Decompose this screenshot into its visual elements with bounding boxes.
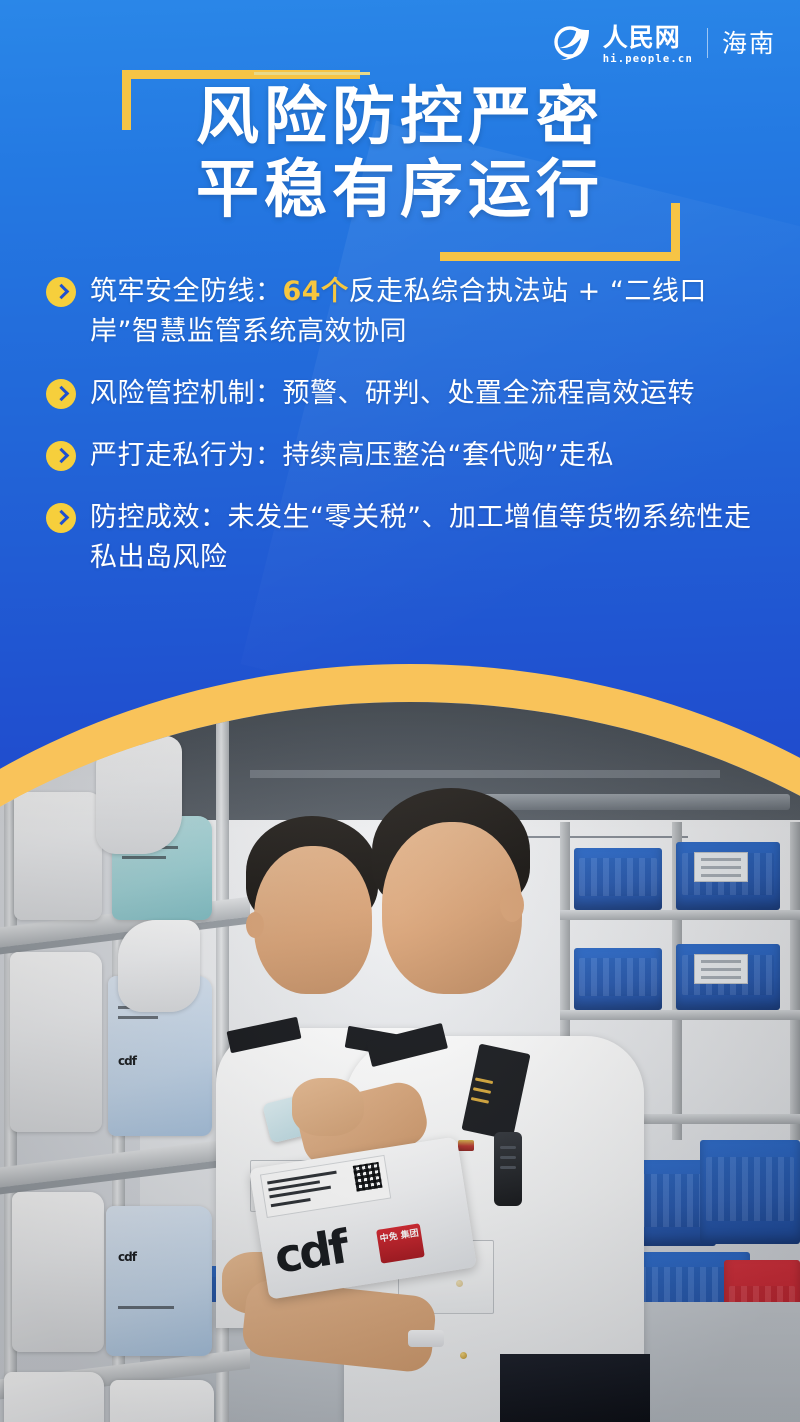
logo-text-wrap: 人民网 hi.people.cn xyxy=(603,25,693,65)
parcel-seal-logo: 中免 集团 xyxy=(376,1223,425,1263)
package-label: cdf xyxy=(118,1054,136,1068)
package-label: cdf xyxy=(118,1250,136,1264)
photo-officer-hand xyxy=(292,1078,364,1136)
bullet-list: 筑牢安全防线：64个反走私综合执法站 + “二线口岸”智慧监管系统高效协同 风险… xyxy=(46,272,758,600)
bullet-prefix: 风险管控机制：预警、研判、处置全流程高效运转 xyxy=(90,378,695,409)
bracket-top-left-thin-line xyxy=(254,72,370,75)
list-item: 筑牢安全防线：64个反走私综合执法站 + “二线口岸”智慧监管系统高效协同 xyxy=(46,272,758,352)
logo-divider xyxy=(707,28,708,58)
bullet-text: 筑牢安全防线：64个反走私综合执法站 + “二线口岸”智慧监管系统高效协同 xyxy=(90,272,758,352)
parcel-shipping-label xyxy=(260,1155,391,1218)
chevron-right-circle-icon xyxy=(46,503,76,533)
photo-left-shelving: CDF cdf cdf xyxy=(0,702,250,1422)
list-item: 严打走私行为：持续高压整治“套代购”走私 xyxy=(46,436,758,476)
bullet-prefix: 严打走私行为：持续高压整治“套代购”走私 xyxy=(90,440,614,471)
bullet-text: 风险管控机制：预警、研判、处置全流程高效运转 xyxy=(90,374,758,414)
chevron-right-circle-icon xyxy=(46,379,76,409)
chevron-right-circle-icon xyxy=(46,441,76,471)
site-logo[interactable]: 人民网 hi.people.cn 海南 xyxy=(553,22,776,64)
parcel-brand-text: cdf xyxy=(271,1223,349,1280)
title-block: 风险防控严密 平稳有序运行 xyxy=(0,62,800,267)
globe-icon xyxy=(553,22,595,64)
photo-zone: CDF cdf cdf xyxy=(0,640,800,1422)
title-line-1: 风险防控严密 xyxy=(0,80,800,153)
title-line-2: 平稳有序运行 xyxy=(0,153,800,226)
photo-ceiling-beam xyxy=(250,770,720,778)
poster-root: 人民网 hi.people.cn 海南 风险防控严密 平稳有序运行 筑牢安全防线… xyxy=(0,0,800,1422)
bullet-prefix: 防控成效：未发生“零关税”、加工增值等货物系统性走私出岛风险 xyxy=(90,502,751,573)
bullet-highlight: 64个 xyxy=(283,276,349,307)
logo-mark: 人民网 hi.people.cn xyxy=(553,22,693,64)
list-item: 防控成效：未发生“零关税”、加工增值等货物系统性走私出岛风险 xyxy=(46,498,758,578)
seal-line-2: 集团 xyxy=(400,1229,419,1242)
logo-region: 海南 xyxy=(722,31,776,56)
photo-clip: CDF cdf cdf xyxy=(0,702,800,1422)
photo-wristwatch xyxy=(408,1330,444,1347)
bullet-text: 防控成效：未发生“零关税”、加工增值等货物系统性走私出岛风险 xyxy=(90,498,758,578)
warehouse-photo: CDF cdf cdf xyxy=(0,702,800,1422)
qr-code-icon xyxy=(353,1162,383,1192)
logo-name: 人民网 xyxy=(603,25,681,50)
bullet-text: 严打走私行为：持续高压整治“套代购”走私 xyxy=(90,436,758,476)
seal-line-1: 中免 xyxy=(379,1232,398,1245)
chevron-right-circle-icon xyxy=(46,277,76,307)
page-title: 风险防控严密 平稳有序运行 xyxy=(0,80,800,226)
bullet-prefix: 筑牢安全防线： xyxy=(90,276,283,307)
list-item: 风险管控机制：预警、研判、处置全流程高效运转 xyxy=(46,374,758,414)
bracket-bottom-right-extension xyxy=(440,252,568,261)
body-camera-icon xyxy=(494,1132,522,1206)
